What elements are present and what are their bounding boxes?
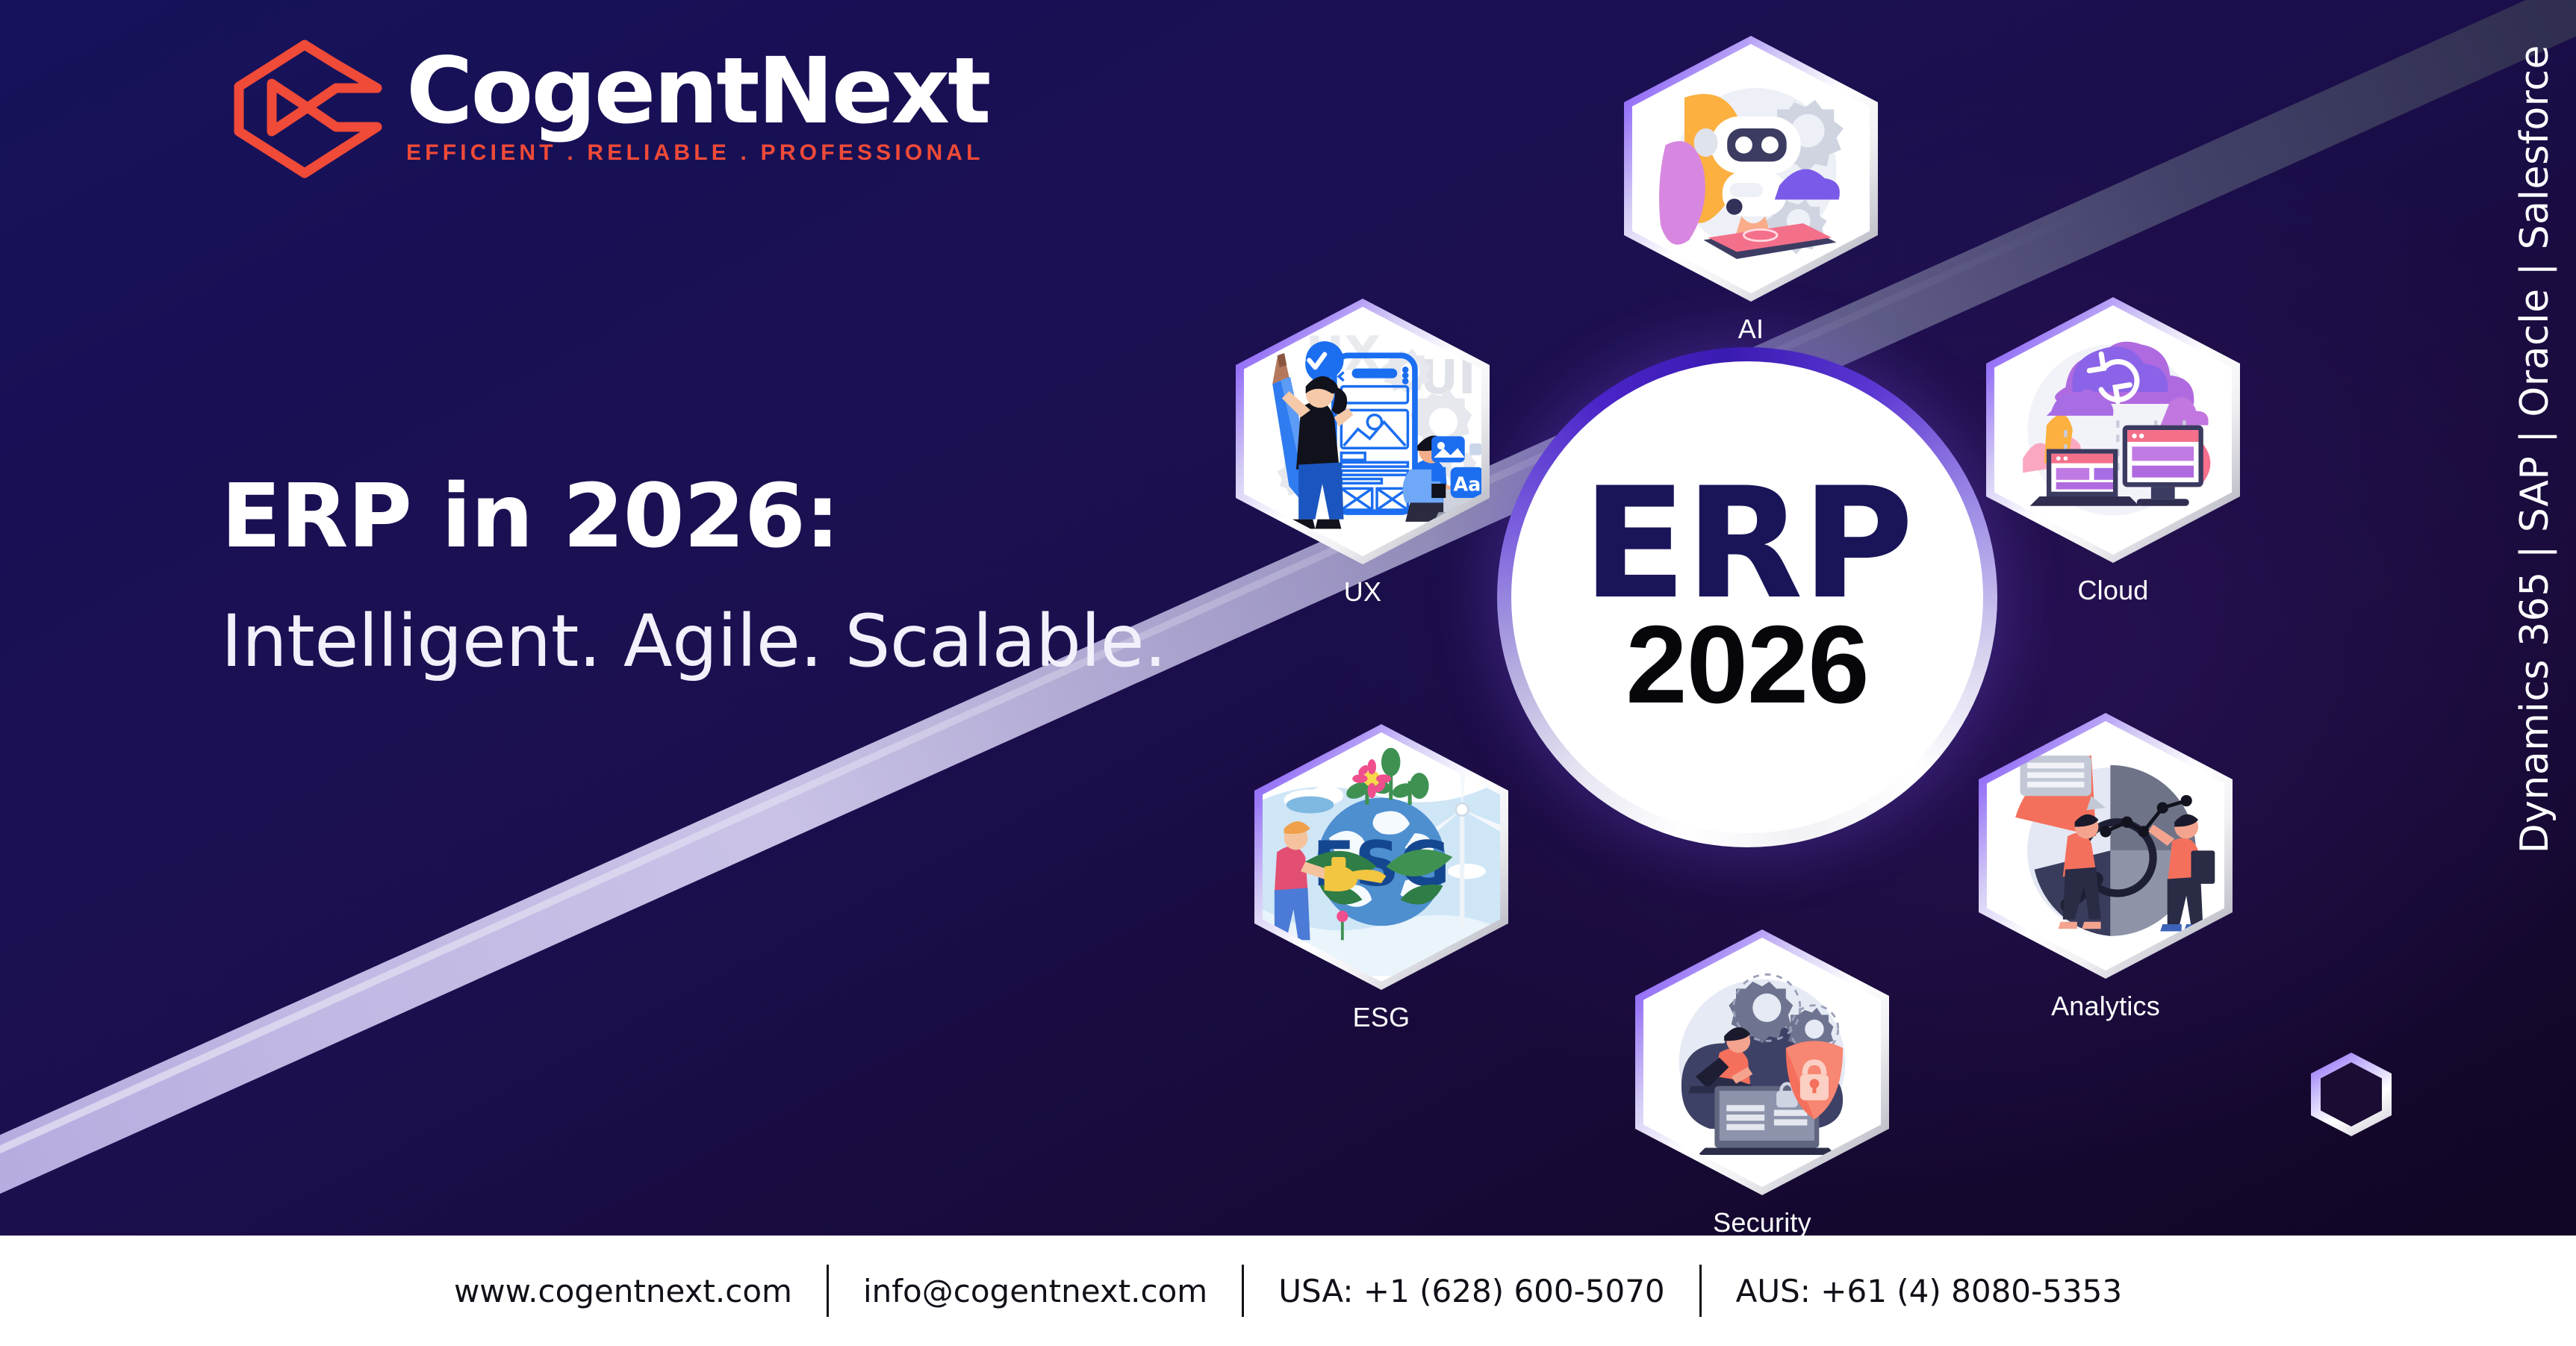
node-security[interactable]: Security bbox=[1635, 929, 1889, 1238]
logo-text-block: CogentNext EFFICIENT . RELIABLE . PROFES… bbox=[406, 36, 989, 166]
tech-stack-text: Dynamics 365 | SAP | Oracle | Salesforce bbox=[2513, 45, 2557, 853]
node-label: UX bbox=[1236, 576, 1490, 608]
node-cloud[interactable]: Cloud bbox=[1986, 297, 2240, 606]
contact-footer: www.cogentnext.com info@cogentnext.com U… bbox=[0, 1236, 2576, 1346]
tech-stack-strip: Dynamics 365 | SAP | Oracle | Salesforce bbox=[2501, 45, 2569, 985]
hub-inner-disc: ERP 2026 bbox=[1511, 361, 1983, 833]
node-label: AI bbox=[1624, 314, 1878, 345]
footer-website[interactable]: www.cogentnext.com bbox=[420, 1273, 827, 1309]
headline-block: ERP in 2026: Intelligent. Agile. Scalabl… bbox=[221, 470, 1341, 681]
footer-email[interactable]: info@cogentnext.com bbox=[829, 1273, 1242, 1309]
hexagon-accent-mark bbox=[2311, 1053, 2392, 1136]
brand-name: CogentNext bbox=[406, 49, 989, 133]
banner-canvas: CogentNext EFFICIENT . RELIABLE . PROFES… bbox=[0, 0, 2576, 1346]
brand-tagline: EFFICIENT . RELIABLE . PROFESSIONAL bbox=[406, 140, 989, 166]
cogentnext-logo-mark bbox=[224, 36, 396, 181]
headline-secondary: Intelligent. Agile. Scalable. bbox=[221, 603, 1341, 681]
node-esg[interactable]: ESG bbox=[1254, 724, 1508, 1033]
ux-art-text-aa: Aa bbox=[1453, 473, 1481, 496]
node-label: ESG bbox=[1254, 1002, 1508, 1033]
brand-logo[interactable]: CogentNext EFFICIENT . RELIABLE . PROFES… bbox=[224, 36, 989, 181]
footer-phone-aus[interactable]: AUS: +61 (4) 8080-5353 bbox=[1702, 1273, 2156, 1309]
node-label: Analytics bbox=[1979, 991, 2233, 1022]
node-ai[interactable]: AI bbox=[1624, 36, 1878, 345]
headline-primary: ERP in 2026: bbox=[221, 470, 1341, 563]
node-ux[interactable]: UX UI bbox=[1236, 299, 1490, 608]
node-analytics[interactable]: Analytics bbox=[1979, 713, 2233, 1022]
erp-hub-circle: ERP 2026 bbox=[1497, 347, 1997, 847]
node-label: Security bbox=[1635, 1207, 1889, 1238]
asset-tiles: Aa bbox=[1431, 436, 1481, 498]
hub-title: ERP bbox=[1582, 474, 1912, 615]
hub-year: 2026 bbox=[1625, 610, 1868, 720]
node-label: Cloud bbox=[1986, 575, 2240, 606]
footer-phone-usa[interactable]: USA: +1 (628) 600-5070 bbox=[1244, 1273, 1699, 1309]
